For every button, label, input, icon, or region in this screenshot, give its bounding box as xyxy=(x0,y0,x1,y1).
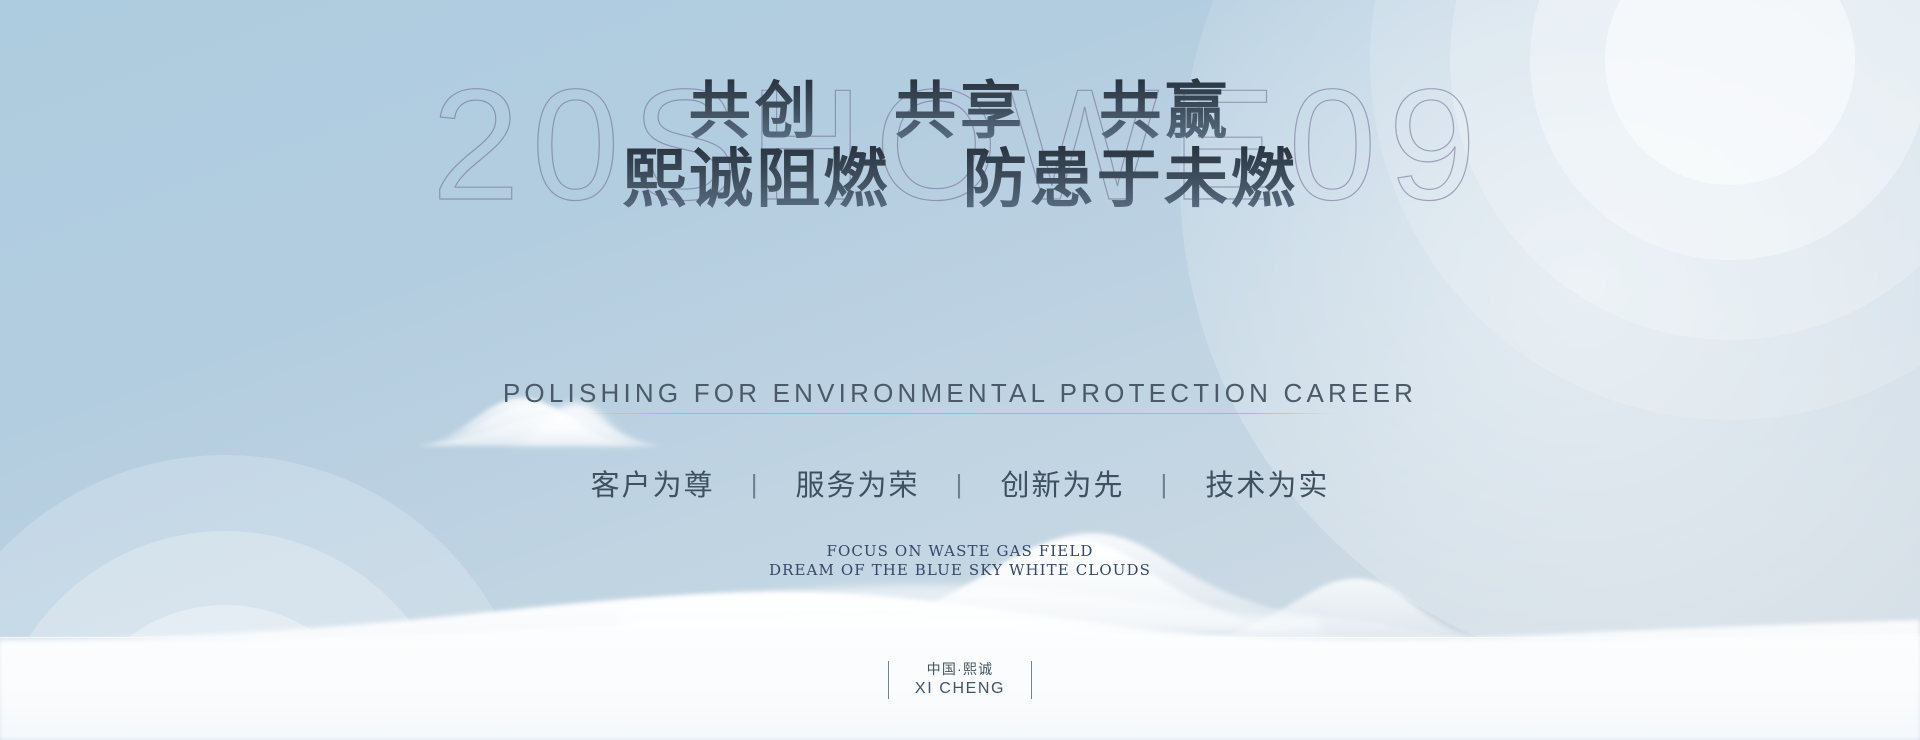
headline-phrase-3: 共赢 xyxy=(1099,74,1231,147)
english-subtitle: POLISHING FOR ENVIRONMENTAL PROTECTION C… xyxy=(0,378,1920,409)
brand-name-cn: 中国·熙诚 xyxy=(915,660,1005,678)
value-separator: | xyxy=(956,469,965,500)
value-item-1: 客户为尊 xyxy=(591,462,715,504)
headline-line-2: 熙诚阻燃 防患于未燃 xyxy=(0,146,1920,214)
slogan-line-1: FOCUS ON WASTE GAS FIELD xyxy=(0,542,1920,561)
values-row: 客户为尊 | 服务为荣 | 创新为先 | 技术为实 xyxy=(0,462,1920,504)
headline-phrase-1: 共创 xyxy=(689,74,821,147)
value-item-2: 服务为荣 xyxy=(796,462,920,504)
brand-text: 中国·熙诚 XI CHENG xyxy=(915,660,1005,700)
slogan-block: FOCUS ON WASTE GAS FIELD DREAM OF THE BL… xyxy=(0,542,1920,580)
subtitle-divider-rule xyxy=(584,413,1336,414)
brand-lockup: 中国·熙诚 XI CHENG xyxy=(0,660,1920,700)
horizon-hairline xyxy=(0,637,1920,638)
headline-phrase-4: 熙诚阻燃 xyxy=(622,142,890,217)
value-separator: | xyxy=(1161,469,1170,500)
slogan-line-2: DREAM OF THE BLUE SKY WHITE CLOUDS xyxy=(0,561,1920,580)
headline-line-1: 共创 共享 共赢 xyxy=(0,78,1920,144)
brand-divider-right xyxy=(1031,661,1032,699)
brand-name-en: XI CHENG xyxy=(915,678,1005,699)
value-item-4: 技术为实 xyxy=(1205,462,1329,504)
brand-divider-left xyxy=(888,661,889,699)
headline-block: 共创 共享 共赢 熙诚阻燃 防患于未燃 xyxy=(0,78,1920,214)
promotional-banner: 20SHOWE09 xyxy=(0,0,1920,740)
value-item-3: 创新为先 xyxy=(1000,462,1124,504)
headline-phrase-5: 防患于未燃 xyxy=(963,142,1298,217)
left-mountain-peak xyxy=(500,403,654,447)
right-mountain-secondary-peak xyxy=(1180,578,1490,642)
value-separator: | xyxy=(751,469,760,500)
headline-phrase-2: 共享 xyxy=(894,74,1026,147)
cloud-wisp xyxy=(620,585,1320,630)
